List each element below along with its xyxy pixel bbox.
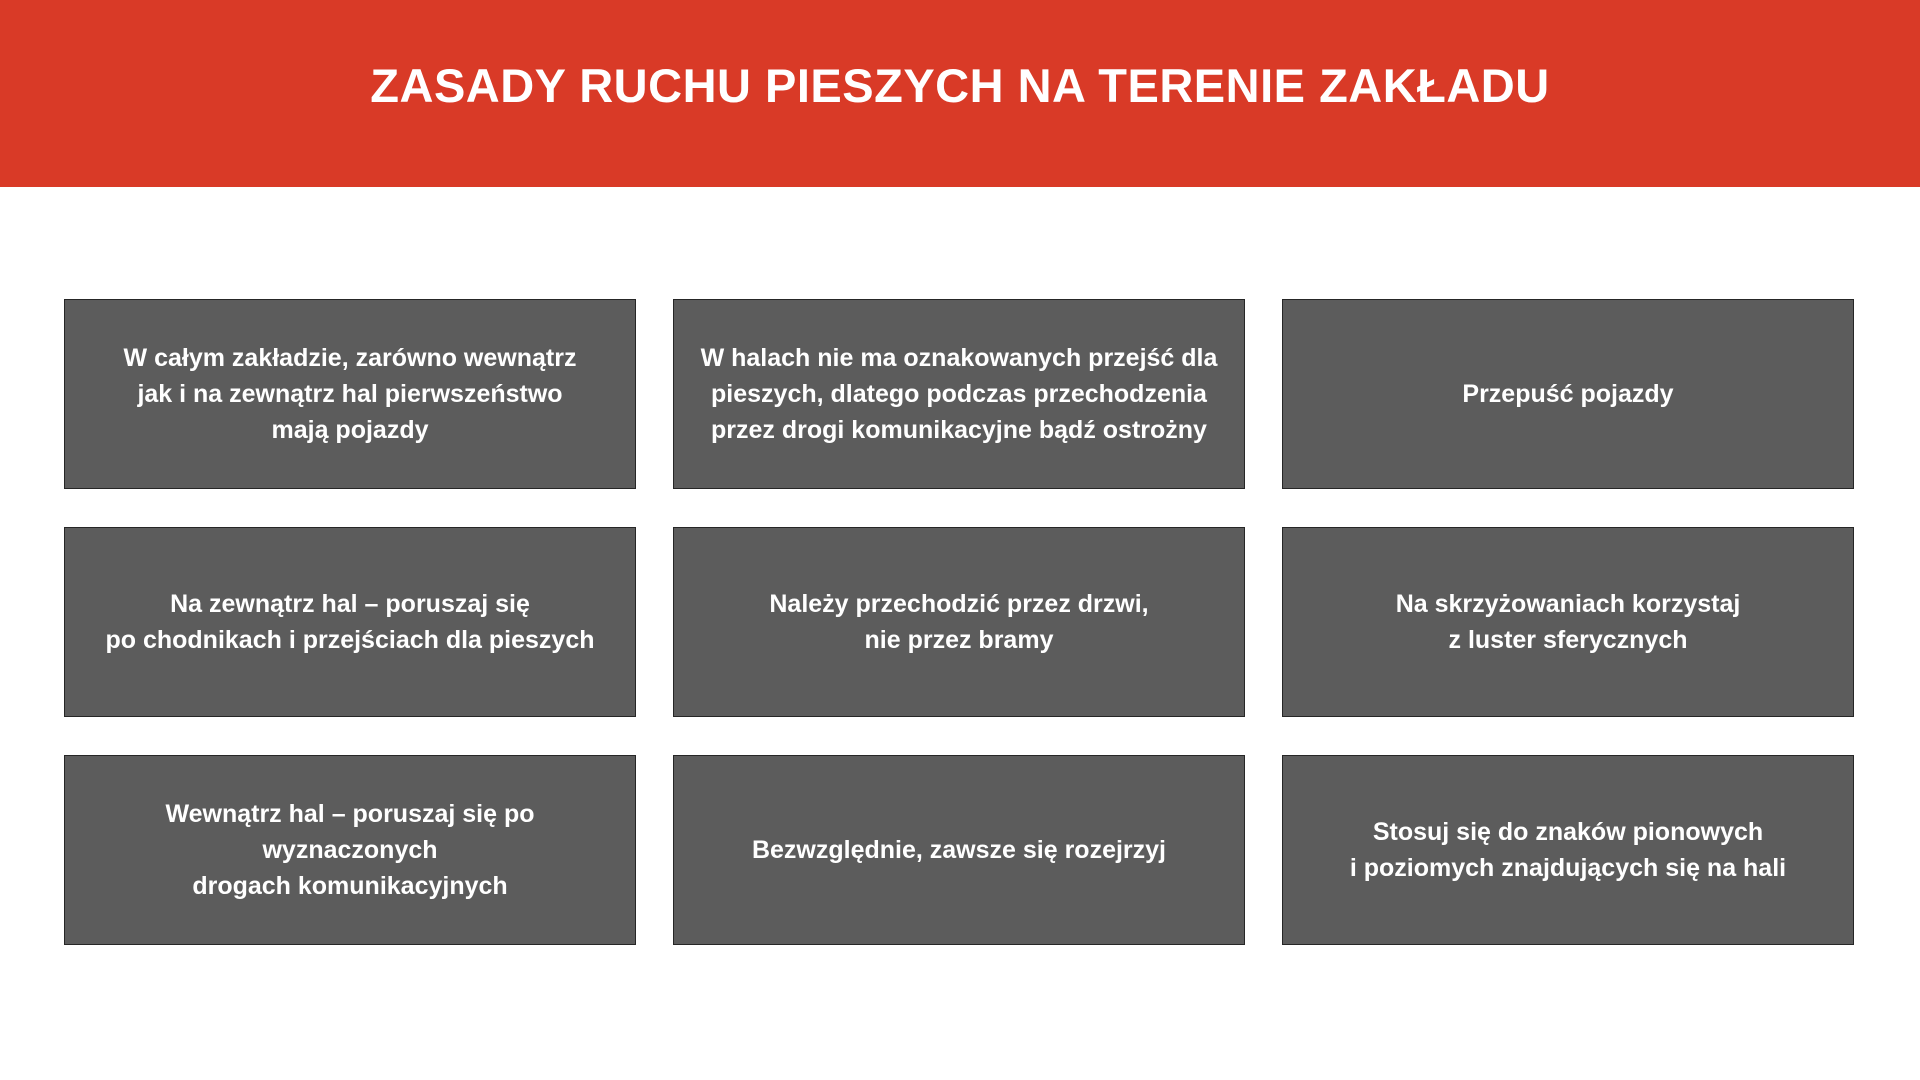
- rule-card-6: Na skrzyżowaniach korzystaj z luster sfe…: [1282, 527, 1854, 717]
- rules-grid: W całym zakładzie, zarówno wewnątrz jak …: [64, 299, 1857, 945]
- rule-card-7: Wewnątrz hal – poruszaj się po wyznaczon…: [64, 755, 636, 945]
- rule-card-5: Należy przechodzić przez drzwi, nie prze…: [673, 527, 1245, 717]
- page-title: ZASADY RUCHU PIESZYCH NA TERENIE ZAKŁADU: [370, 60, 1549, 112]
- rules-content-area: W całym zakładzie, zarówno wewnątrz jak …: [0, 187, 1920, 1080]
- rule-card-3: Przepuść pojazdy: [1282, 299, 1854, 489]
- rule-card-1-text: W całym zakładzie, zarówno wewnątrz jak …: [124, 340, 577, 449]
- header-banner: ZASADY RUCHU PIESZYCH NA TERENIE ZAKŁADU: [0, 0, 1920, 187]
- rule-card-8-text: Bezwzględnie, zawsze się rozejrzyj: [752, 832, 1166, 868]
- rule-card-6-text: Na skrzyżowaniach korzystaj z luster sfe…: [1396, 586, 1741, 659]
- rule-card-9: Stosuj się do znaków pionowych i poziomy…: [1282, 755, 1854, 945]
- rule-card-2-text: W halach nie ma oznakowanych przejść dla…: [701, 340, 1218, 449]
- rule-card-7-text: Wewnątrz hal – poruszaj się po wyznaczon…: [81, 796, 619, 905]
- rule-card-4: Na zewnątrz hal – poruszaj się po chodni…: [64, 527, 636, 717]
- rule-card-9-text: Stosuj się do znaków pionowych i poziomy…: [1350, 814, 1786, 887]
- rule-card-4-text: Na zewnątrz hal – poruszaj się po chodni…: [105, 586, 594, 659]
- rule-card-8: Bezwzględnie, zawsze się rozejrzyj: [673, 755, 1245, 945]
- rule-card-1: W całym zakładzie, zarówno wewnątrz jak …: [64, 299, 636, 489]
- rule-card-3-text: Przepuść pojazdy: [1462, 376, 1673, 412]
- rule-card-2: W halach nie ma oznakowanych przejść dla…: [673, 299, 1245, 489]
- rule-card-5-text: Należy przechodzić przez drzwi, nie prze…: [769, 586, 1148, 659]
